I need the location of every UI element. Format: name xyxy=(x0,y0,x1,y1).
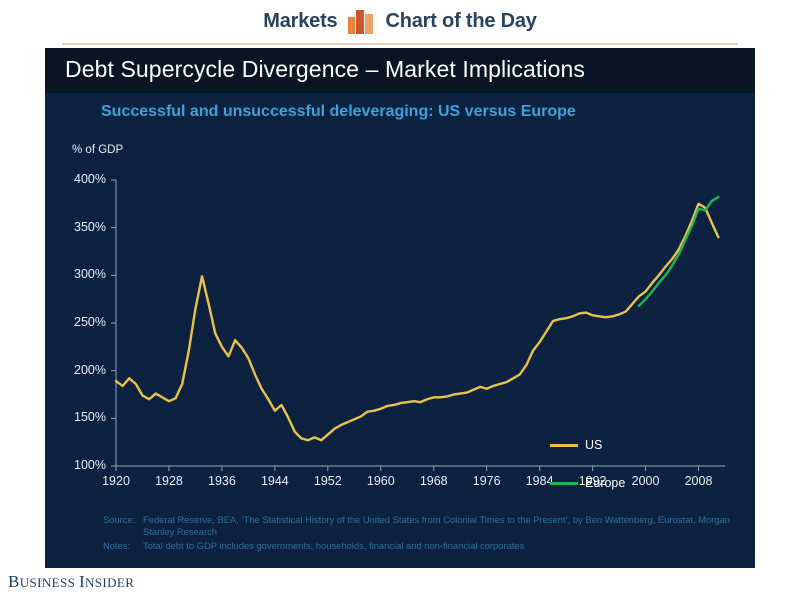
series-line-us xyxy=(116,204,718,440)
y-axis-tick-label: 400% xyxy=(60,172,106,186)
x-axis-tick-label: 1960 xyxy=(357,474,405,488)
source-label: Source: xyxy=(103,514,143,539)
logo-nsider: NSIDER xyxy=(85,575,134,590)
x-axis-tick-label: 2000 xyxy=(622,474,670,488)
y-axis-tick-label: 350% xyxy=(60,220,106,234)
header-divider xyxy=(62,43,738,45)
x-axis-tick-label: 1968 xyxy=(410,474,458,488)
y-axis-tick-label: 200% xyxy=(60,363,106,377)
legend-item-us[interactable]: US xyxy=(550,438,602,452)
chart-panel: Debt Supercycle Divergence – Market Impl… xyxy=(45,48,755,568)
x-axis-tick-label: 1952 xyxy=(304,474,352,488)
y-axis-tick-label: 150% xyxy=(60,410,106,424)
x-axis-tick-label: 1976 xyxy=(463,474,511,488)
y-axis-tick-label: 300% xyxy=(60,267,106,281)
logo-usiness: USINESS xyxy=(20,575,79,590)
notes-row: Notes: Total debt to GDP includes govern… xyxy=(103,540,743,552)
source-row: Source: Federal Reserve, BEA, ‘The Stati… xyxy=(103,514,743,539)
notes-value: Total debt to GDP includes governments, … xyxy=(143,540,743,552)
y-axis-tick-label: 250% xyxy=(60,315,106,329)
bar-chart-icon xyxy=(348,10,374,34)
logo-b: B xyxy=(8,572,20,591)
x-axis-tick-label: 2008 xyxy=(675,474,723,488)
legend-label-europe: Europe xyxy=(585,476,625,490)
legend-swatch-europe xyxy=(550,482,578,485)
legend-label-us: US xyxy=(585,438,602,452)
header-markets-label: Markets xyxy=(263,10,337,33)
x-axis-tick-label: 1920 xyxy=(92,474,140,488)
x-axis-tick-label: 1928 xyxy=(145,474,193,488)
plot-area: 100%150%200%250%300%350%400%192019281936… xyxy=(45,48,755,568)
notes-label: Notes: xyxy=(103,540,143,552)
x-axis-tick-label: 1944 xyxy=(251,474,299,488)
footnotes: Source: Federal Reserve, BEA, ‘The Stati… xyxy=(103,514,743,552)
page-header: Markets Chart of the Day xyxy=(0,0,800,43)
source-value: Federal Reserve, BEA, ‘The Statistical H… xyxy=(143,514,743,539)
y-axis-tick-label: 100% xyxy=(60,458,106,472)
legend-item-europe[interactable]: Europe xyxy=(550,476,625,490)
business-insider-logo: BUSINESS INSIDER xyxy=(8,572,134,592)
chart-svg xyxy=(45,48,755,568)
legend-swatch-us xyxy=(550,444,578,447)
header-chart-of-the-day-label: Chart of the Day xyxy=(385,10,536,33)
x-axis-tick-label: 1936 xyxy=(198,474,246,488)
